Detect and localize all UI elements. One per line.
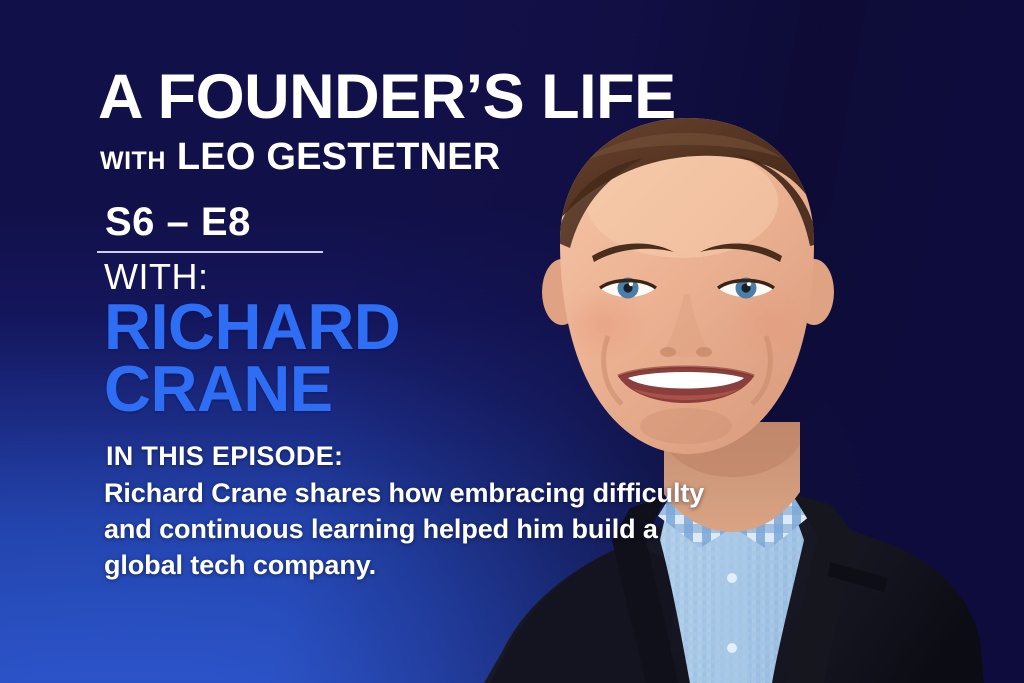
host-name: LEO GESTETNER — [177, 136, 501, 179]
cover-text-layer: A FOUNDER’S LIFE WITH LEO GESTETNER S6 –… — [0, 0, 1024, 683]
episode-description: Richard Crane shares how embracing diffi… — [104, 476, 824, 584]
host-prefix-label: WITH — [100, 147, 166, 176]
guest-name: RICHARD CRANE — [104, 296, 400, 420]
host-line: WITH LEO GESTETNER — [100, 136, 500, 179]
in-this-episode-label: IN THIS EPISODE: — [106, 441, 343, 472]
episode-code: S6 – E8 — [105, 200, 251, 245]
divider-rule — [97, 251, 323, 253]
show-title: A FOUNDER’S LIFE — [98, 66, 676, 129]
podcast-cover-image: A FOUNDER’S LIFE WITH LEO GESTETNER S6 –… — [0, 0, 1024, 683]
